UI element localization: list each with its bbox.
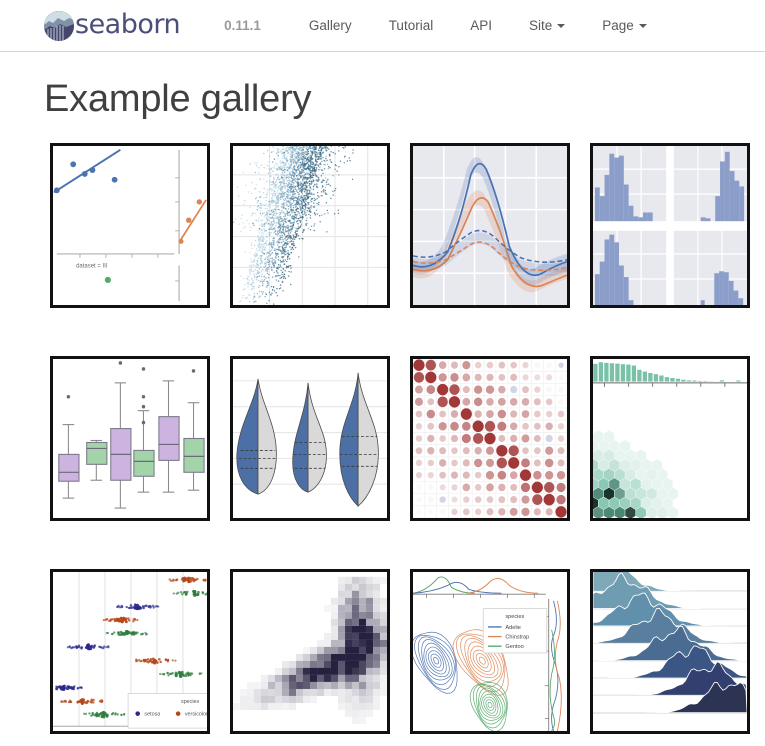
nav-link-tutorial-label: Tutorial [389, 18, 434, 33]
thumb-timeseries-error-bands[interactable] [410, 143, 570, 308]
thumb-bivariate-histogram[interactable] [230, 569, 390, 734]
kde-legend-label-gentoo: Gentoo [505, 644, 523, 650]
swarm-legend-title: species [181, 699, 200, 705]
primary-nav: Gallery Tutorial API Site Page [309, 18, 647, 33]
nav-link-page-label: Page [602, 18, 634, 33]
thumb-split-violinplot[interactable] [230, 356, 390, 521]
kde-legend-label-adelie: Adelie [505, 625, 521, 631]
thumb-correlation-dot-matrix[interactable] [410, 356, 570, 521]
thumb-anscombes-quartet[interactable]: dataset = III [50, 143, 210, 308]
nav-link-page[interactable]: Page [602, 18, 647, 33]
thumb-kde-contours-penguins[interactable]: species Adelie Chinstrap Gentoo [410, 569, 570, 734]
nav-link-site[interactable]: Site [529, 18, 565, 33]
nav-link-api[interactable]: API [470, 18, 492, 33]
brand-link[interactable]: seaborn [44, 11, 180, 41]
nav-link-tutorial[interactable]: Tutorial [389, 18, 434, 33]
nav-link-gallery-label: Gallery [309, 18, 352, 33]
swarm-legend-label-setosa: setosa [144, 712, 160, 718]
seaborn-logo-icon [44, 11, 74, 41]
thumb-grouped-boxplot[interactable] [50, 356, 210, 521]
gallery-grid: dataset = III [0, 121, 765, 734]
brand-text: seaborn [75, 11, 180, 41]
swarm-legend-label-versicolor: versicolor [185, 712, 207, 718]
thumb-facetgrid-histograms[interactable] [590, 143, 750, 308]
chevron-down-icon [557, 24, 565, 28]
nav-link-site-label: Site [529, 18, 552, 33]
svg-text:dataset = III: dataset = III [76, 263, 108, 269]
thumb-scatterplot-marginal-ticks[interactable] [230, 143, 390, 308]
nav-link-gallery[interactable]: Gallery [309, 18, 352, 33]
thumb-hexbin-jointplot[interactable] [590, 356, 750, 521]
kde-legend-title: species [505, 614, 524, 620]
site-navbar: seaborn 0.11.1 Gallery Tutorial API Site… [0, 0, 765, 52]
thumb-swarmplot-iris[interactable]: species setosa versicolor [50, 569, 210, 734]
chevron-down-icon [639, 24, 647, 28]
page-title: Example gallery [0, 52, 765, 121]
version-label: 0.11.1 [224, 18, 261, 33]
kde-legend-label-chinstrap: Chinstrap [505, 634, 529, 640]
nav-link-api-label: API [470, 18, 492, 33]
thumb-ridgeline-joyplot[interactable] [590, 569, 750, 734]
